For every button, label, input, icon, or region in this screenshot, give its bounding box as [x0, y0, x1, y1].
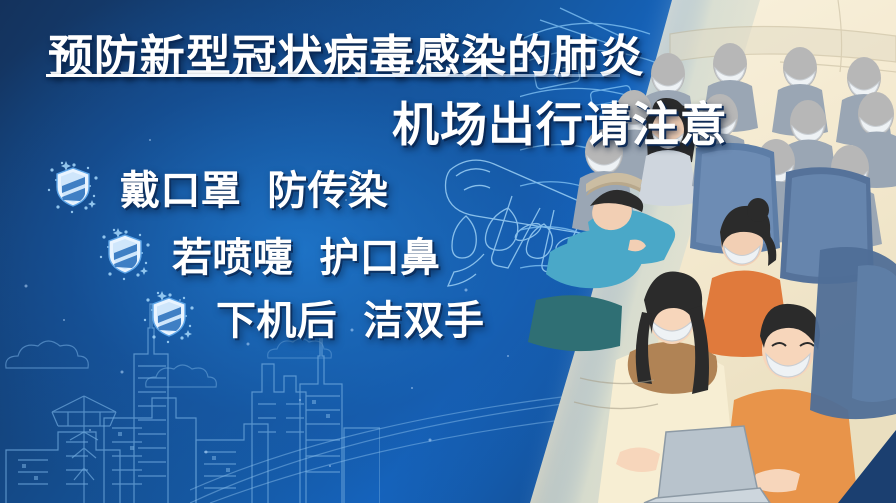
- slogan-line-1: 戴口罩防传染: [44, 158, 388, 216]
- slogan-line-2: 若喷嚏护口鼻: [96, 225, 440, 283]
- slogan-part-a: 戴口罩: [120, 168, 241, 214]
- slogan-part-b: 护口鼻: [319, 235, 440, 281]
- swoosh-line-decor: [190, 360, 570, 503]
- cloud-line-art: [0, 330, 130, 380]
- shield-icon: [96, 225, 154, 283]
- shield-icon: [140, 288, 198, 346]
- slogan-text-3: 下机后洁双手: [216, 288, 484, 346]
- poster-canvas: 预防新型冠状病毒感染的肺炎 机场出行请注意 戴口罩防传染: [0, 0, 896, 503]
- transmission-tower-line-art: [44, 388, 124, 503]
- slogan-part-b: 防传染: [267, 168, 388, 214]
- slogan-part-a: 下机后: [216, 298, 337, 344]
- title-underline: [46, 74, 620, 77]
- slogan-text-2: 若喷嚏护口鼻: [172, 225, 440, 283]
- slogan-part-b: 洁双手: [363, 298, 484, 344]
- shield-icon: [44, 158, 102, 216]
- slogan-line-3: 下机后洁双手: [140, 288, 484, 346]
- page-title-secondary: 机场出行请注意: [392, 86, 728, 155]
- cloud-line-art: [142, 355, 252, 397]
- slogan-part-a: 若喷嚏: [172, 235, 293, 281]
- slogan-text-1: 戴口罩防传染: [120, 158, 388, 216]
